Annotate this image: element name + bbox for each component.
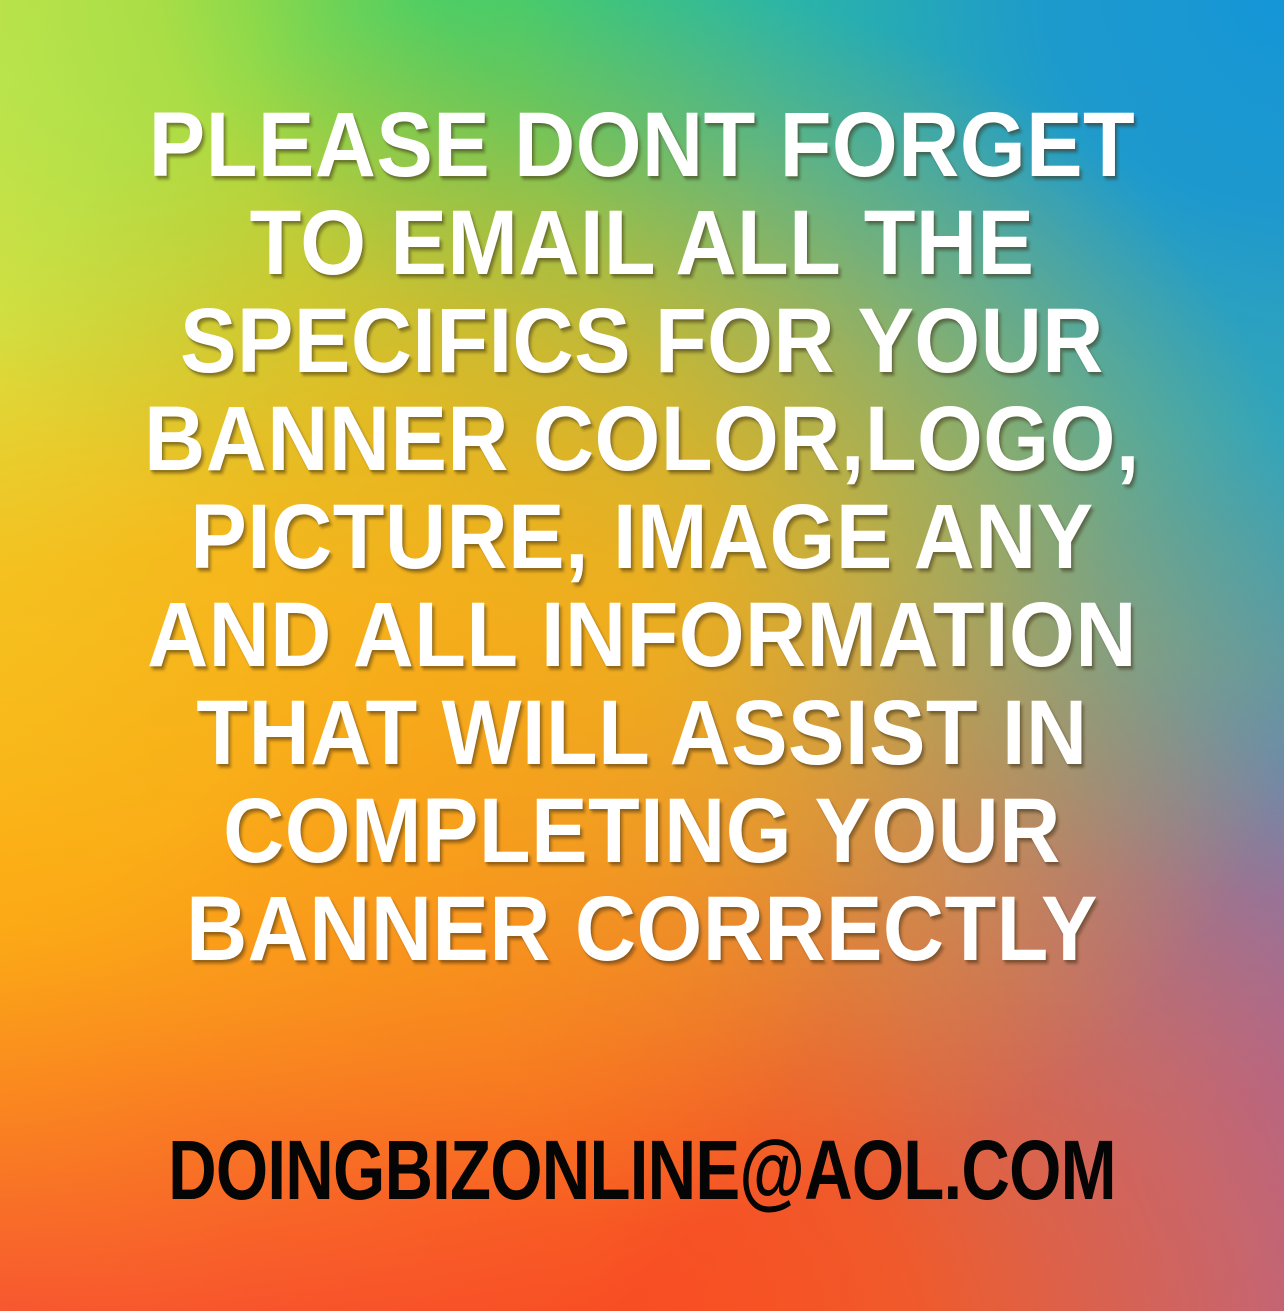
headline-line-4: BANNER COLOR,LOGO, (51, 390, 1232, 488)
headline-text-block: PLEASE DONT FORGET TO EMAIL ALL THE SPEC… (0, 96, 1284, 978)
contact-email-text: DOINGBIZONLINE@AOL.COM (128, 1128, 1155, 1212)
headline-line-1: PLEASE DONT FORGET (51, 96, 1232, 194)
headline-line-8: COMPLETING YOUR (51, 782, 1232, 880)
headline-line-7: THAT WILL ASSIST IN (51, 684, 1232, 782)
headline-line-2: TO EMAIL ALL THE (51, 194, 1232, 292)
headline-line-3: SPECIFICS FOR YOUR (51, 292, 1232, 390)
headline-line-6: AND ALL INFORMATION (51, 586, 1232, 684)
promo-banner: PLEASE DONT FORGET TO EMAIL ALL THE SPEC… (0, 0, 1284, 1311)
headline-line-5: PICTURE, IMAGE ANY (51, 488, 1232, 586)
headline-line-9: BANNER CORRECTLY (51, 880, 1232, 978)
